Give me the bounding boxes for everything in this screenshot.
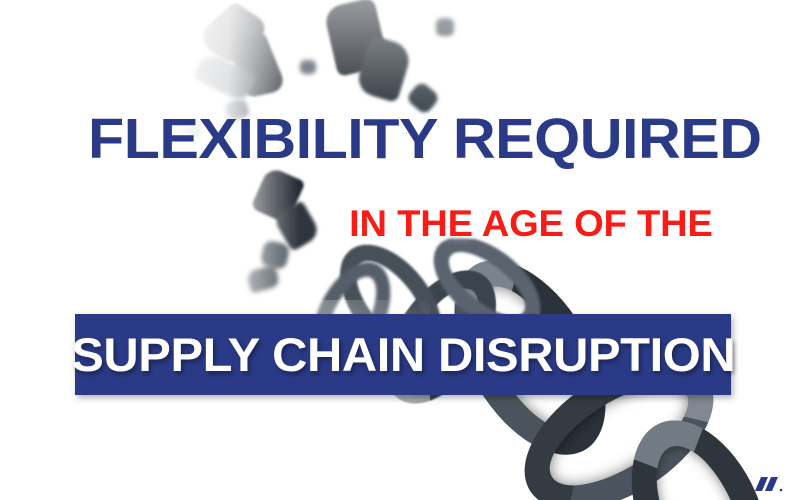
poster-banner-text: SUPPLY CHAIN DISRUPTION (71, 329, 735, 381)
poster-subheadline: IN THE AGE OF THE (330, 203, 732, 245)
poster-banner-bar: SUPPLY CHAIN DISRUPTION (75, 314, 731, 395)
slash-mark-logo-icon (754, 476, 784, 492)
poster-text-stack: FLEXIBILITY REQUIRED IN THE AGE OF THE S… (0, 0, 800, 500)
poster-canvas: FLEXIBILITY REQUIRED IN THE AGE OF THE S… (0, 0, 800, 500)
poster-headline: FLEXIBILITY REQUIRED (88, 108, 745, 170)
